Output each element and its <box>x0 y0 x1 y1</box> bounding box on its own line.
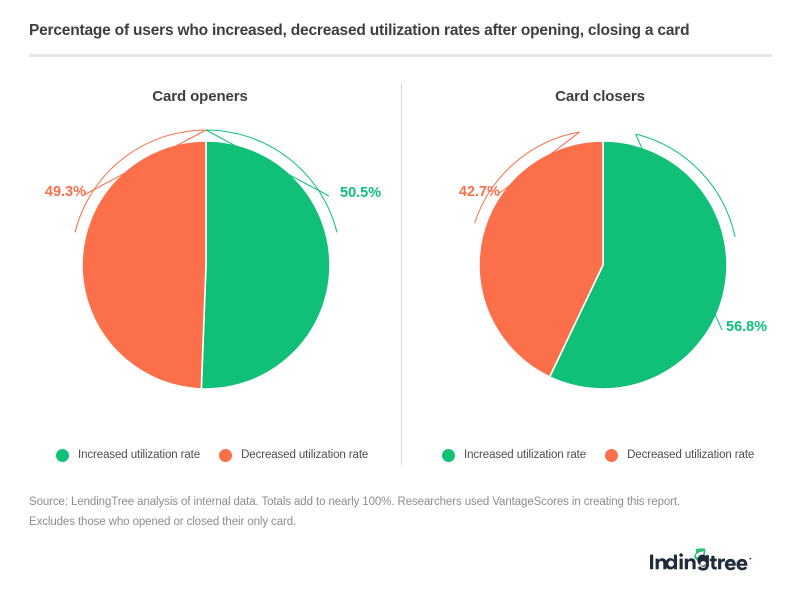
page-title: Percentage of users who increased, decre… <box>29 21 779 41</box>
panel-title-card-openers: Card openers <box>0 88 400 105</box>
chart-panel-card-openers: Card openers <box>0 83 400 473</box>
panel-title-card-closers: Card closers <box>400 88 800 105</box>
legend-item-decreased: Decreased utilization rate <box>219 449 368 462</box>
legend-label-decreased: Decreased utilization rate <box>627 449 754 461</box>
legend-swatch-decreased-icon <box>605 449 618 462</box>
legend-swatch-increased-icon <box>442 449 455 462</box>
legend-swatch-decreased-icon <box>219 449 232 462</box>
legend-card-closers: Increased utilization rate Decreased uti… <box>442 446 754 464</box>
source-note: Source: LendingTree analysis of internal… <box>29 492 729 532</box>
header-divider <box>29 54 772 57</box>
legend-card-openers: Increased utilization rate Decreased uti… <box>56 446 368 464</box>
chart-panel-card-closers: Card closers <box>401 83 800 473</box>
logo-svg <box>648 548 772 576</box>
lendingtree-logo <box>648 548 772 576</box>
logo-wordmark <box>650 553 751 570</box>
legend-item-decreased: Decreased utilization rate <box>605 449 754 462</box>
legend-label-decreased: Decreased utilization rate <box>241 449 368 461</box>
legend-item-increased: Increased utilization rate <box>442 449 586 462</box>
chart-page: Percentage of users who increased, decre… <box>0 0 800 595</box>
legend-item-increased: Increased utilization rate <box>56 449 200 462</box>
legend-label-increased: Increased utilization rate <box>78 449 200 461</box>
legend-swatch-increased-icon <box>56 449 69 462</box>
legend-label-increased: Increased utilization rate <box>464 449 586 461</box>
